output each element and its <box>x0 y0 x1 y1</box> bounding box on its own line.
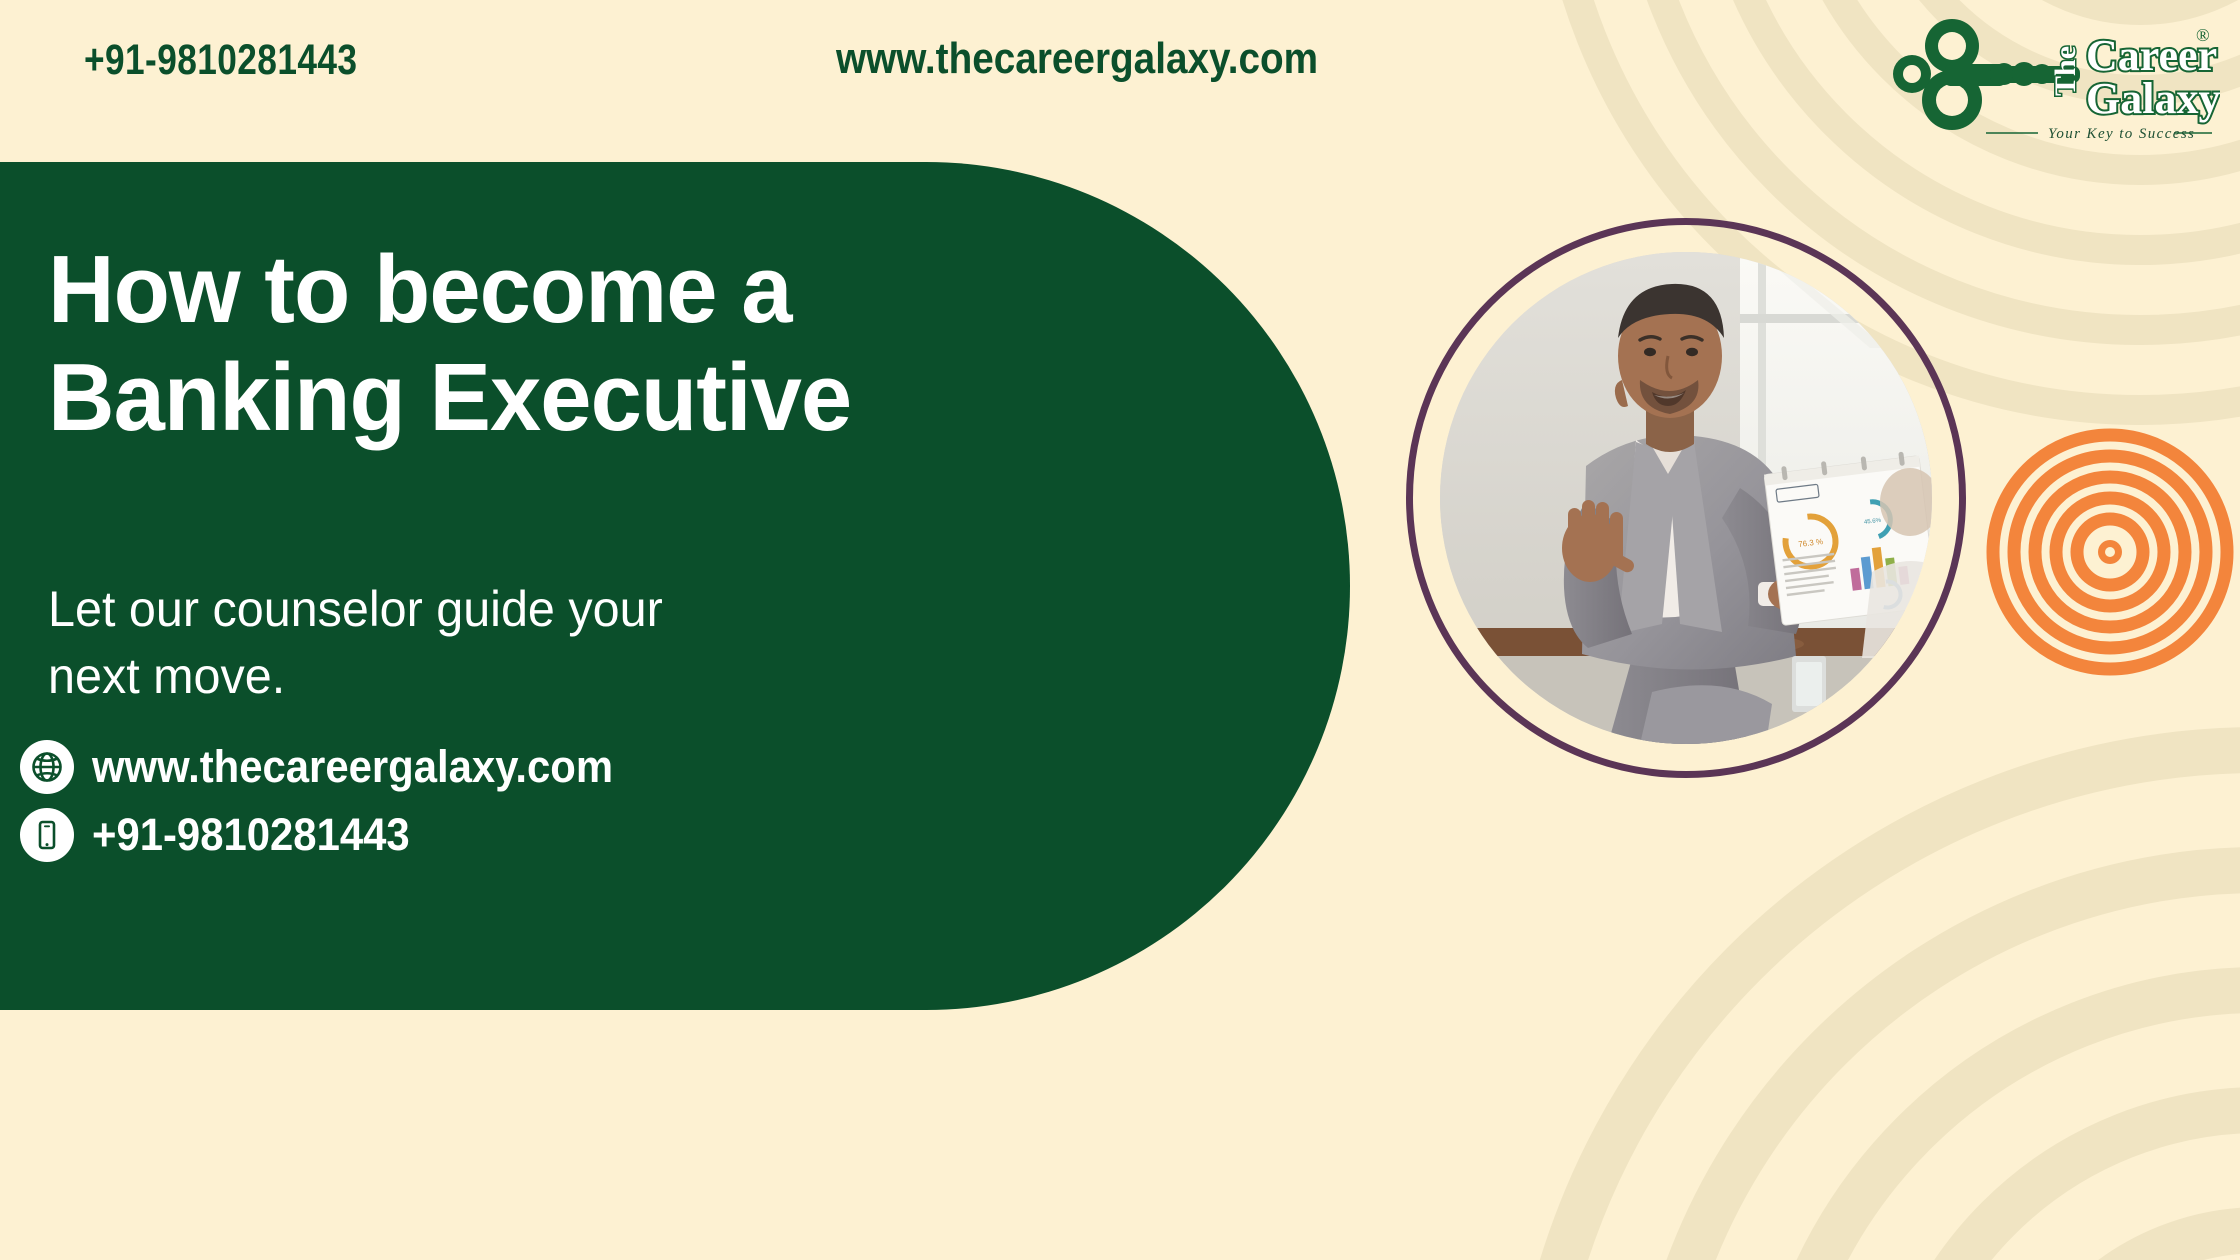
logo-tagline: Your Key to Success <box>2048 126 2195 142</box>
hero-subheading: Let our counselor guide your next move. <box>48 576 663 709</box>
mobile-phone-icon <box>20 808 74 862</box>
logo-registered-mark: ® <box>2196 25 2210 45</box>
headline-line-1: How to become a <box>48 236 851 344</box>
subhead-line-2: next move. <box>48 643 663 710</box>
contact-website-label: www.thecareergalaxy.com <box>92 741 613 793</box>
header-phone[interactable]: +91-9810281443 <box>84 36 357 85</box>
contact-list: www.thecareergalaxy.com +91-9810281443 <box>20 740 652 876</box>
subhead-line-1: Let our counselor guide your <box>48 576 663 643</box>
logo-word-galaxy: Galaxy <box>2086 74 2220 123</box>
header-bar: +91-9810281443 www.thecareergalaxy.com T… <box>0 0 2240 162</box>
page-title: How to become a Banking Executive <box>48 236 851 451</box>
photo-ring-border <box>1406 218 1966 778</box>
header-website[interactable]: www.thecareergalaxy.com <box>836 34 1318 84</box>
hero-panel: How to become a Banking Executive Let ou… <box>0 162 1350 1010</box>
concentric-target-decoration <box>1986 428 2234 676</box>
logo-word-the: The <box>2049 46 2082 96</box>
globe-icon <box>20 740 74 794</box>
contact-phone-label: +91-9810281443 <box>92 809 410 861</box>
contact-row-website[interactable]: www.thecareergalaxy.com <box>20 740 652 794</box>
headline-line-2: Banking Executive <box>48 344 851 452</box>
contact-row-phone[interactable]: +91-9810281443 <box>20 808 652 862</box>
brand-logo[interactable]: The Career Galaxy ® Your Key to Success <box>1890 8 2220 148</box>
hero-photo: 76.3 % 45.6% <box>1406 218 1966 778</box>
